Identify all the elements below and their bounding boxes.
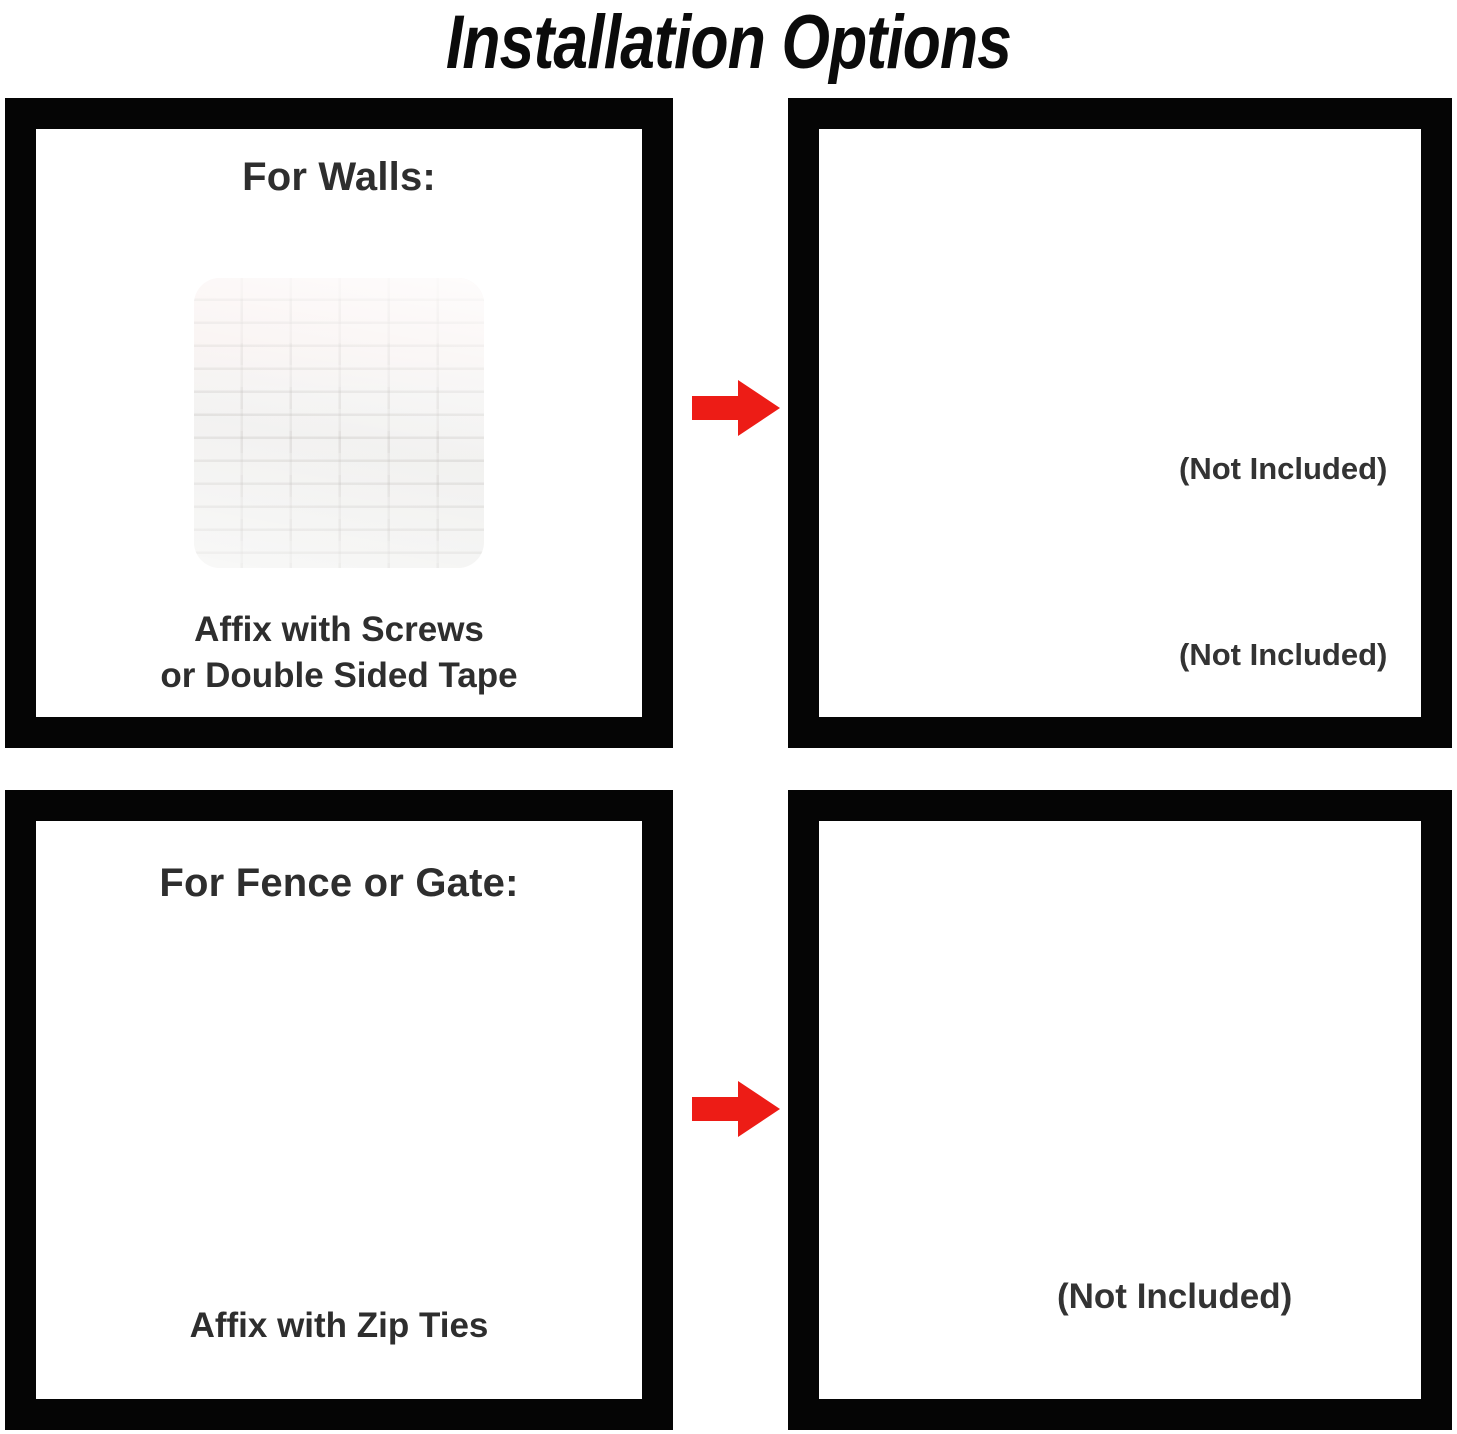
panel-wall-hardware-content: (Not Included) (819, 129, 1421, 717)
affix-with-screws-caption: Affix with Screws (36, 607, 642, 653)
panel-fence-hardware: (Not Included) (788, 790, 1452, 1430)
tape-not-included-note: (Not Included) (1179, 451, 1387, 487)
double-sided-tape-caption: or Double Sided Tape (36, 653, 642, 699)
wall-photo-sheen (194, 278, 484, 568)
arrow-right-icon (690, 1077, 782, 1141)
screws-not-included-note: (Not Included) (1179, 637, 1387, 673)
white-brick-wall-photo (194, 278, 484, 568)
page-title: Installation Options (131, 0, 1326, 88)
affix-with-zip-ties-caption: Affix with Zip Ties (36, 1303, 642, 1349)
panel-for-walls: For Walls: Affix with Screws or Double S… (5, 98, 673, 748)
panel-for-walls-content: For Walls: Affix with Screws or Double S… (36, 129, 642, 717)
panel-for-fence-content: For Fence or Gate: (36, 821, 642, 1399)
panel-wall-hardware: (Not Included) (788, 98, 1452, 748)
arrow-right-icon (690, 376, 782, 440)
panel-for-fence-or-gate: For Fence or Gate: (5, 790, 673, 1430)
zip-ties-not-included-note: (Not Included) (1057, 1277, 1292, 1317)
for-walls-heading: For Walls: (36, 155, 642, 200)
for-fence-or-gate-heading: For Fence or Gate: (36, 861, 642, 906)
panel-fence-hardware-content: (Not Included) (819, 821, 1421, 1399)
